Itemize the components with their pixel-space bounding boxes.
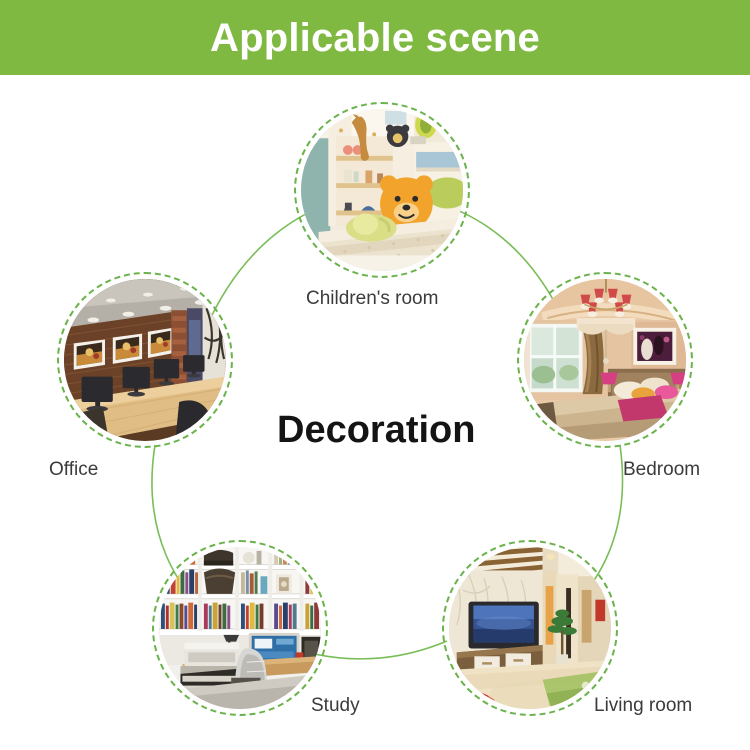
node-study[interactable] xyxy=(152,540,328,716)
center-title: Decoration xyxy=(277,409,475,452)
label-study: Study xyxy=(311,695,360,717)
study-photo xyxy=(159,547,321,709)
diagram-area: Children's room xyxy=(0,75,750,750)
living-room-photo xyxy=(449,547,611,709)
office-photo xyxy=(64,279,226,441)
node-living-room[interactable] xyxy=(442,540,618,716)
bedroom-photo xyxy=(524,279,686,441)
header-bar: Applicable scene xyxy=(0,0,750,75)
applicable-scene-infographic: Applicable scene xyxy=(0,0,750,750)
node-children-room[interactable] xyxy=(294,102,470,278)
label-children-room: Children's room xyxy=(306,288,438,310)
label-office: Office xyxy=(49,459,98,481)
children-room-photo xyxy=(301,109,463,271)
node-office[interactable] xyxy=(57,272,233,448)
page-title: Applicable scene xyxy=(210,18,540,58)
label-living-room: Living room xyxy=(594,695,692,717)
label-bedroom: Bedroom xyxy=(623,459,700,481)
node-bedroom[interactable] xyxy=(517,272,693,448)
